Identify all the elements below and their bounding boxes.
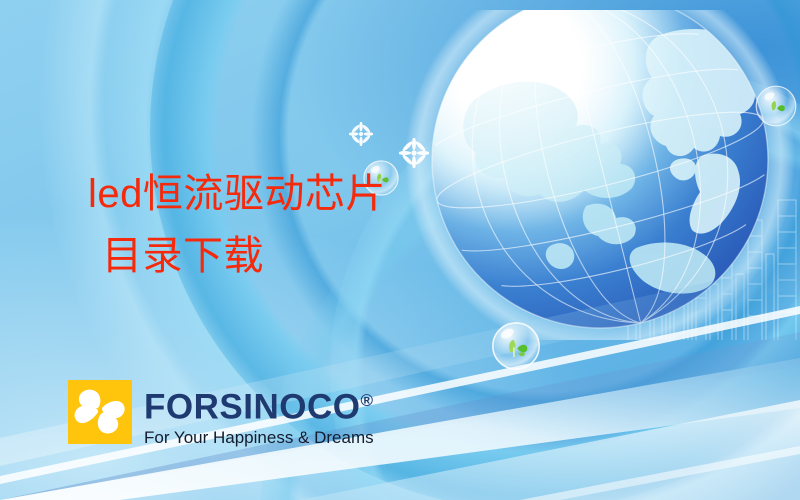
headline-line-1: led恒流驱动芯片 — [88, 172, 386, 216]
bubble-with-leaf-icon — [491, 321, 541, 371]
starburst-flower-icon — [349, 122, 373, 146]
pinwheel-petals-icon — [68, 380, 132, 444]
logo-wordmark: FORSINOCO® — [144, 382, 374, 427]
brand-logo: FORSINOCO® For Your Happiness & Dreams — [68, 380, 374, 448]
page-title: led恒流驱动芯片 目录下载 — [88, 163, 386, 287]
logo-name-text: FORSINOCO — [144, 388, 360, 427]
logo-mark-icon — [68, 380, 132, 444]
registered-trademark-icon: ® — [360, 391, 373, 410]
logo-tagline: For Your Happiness & Dreams — [144, 428, 374, 448]
headline-line-2: 目录下载 — [88, 225, 386, 287]
logo-text-block: FORSINOCO® For Your Happiness & Dreams — [144, 382, 374, 448]
banner-canvas: led恒流驱动芯片 目录下载 FORSINOCO® For Your Happi… — [0, 0, 800, 500]
bubble-with-leaf-icon — [754, 84, 798, 128]
starburst-flower-icon — [399, 138, 429, 168]
